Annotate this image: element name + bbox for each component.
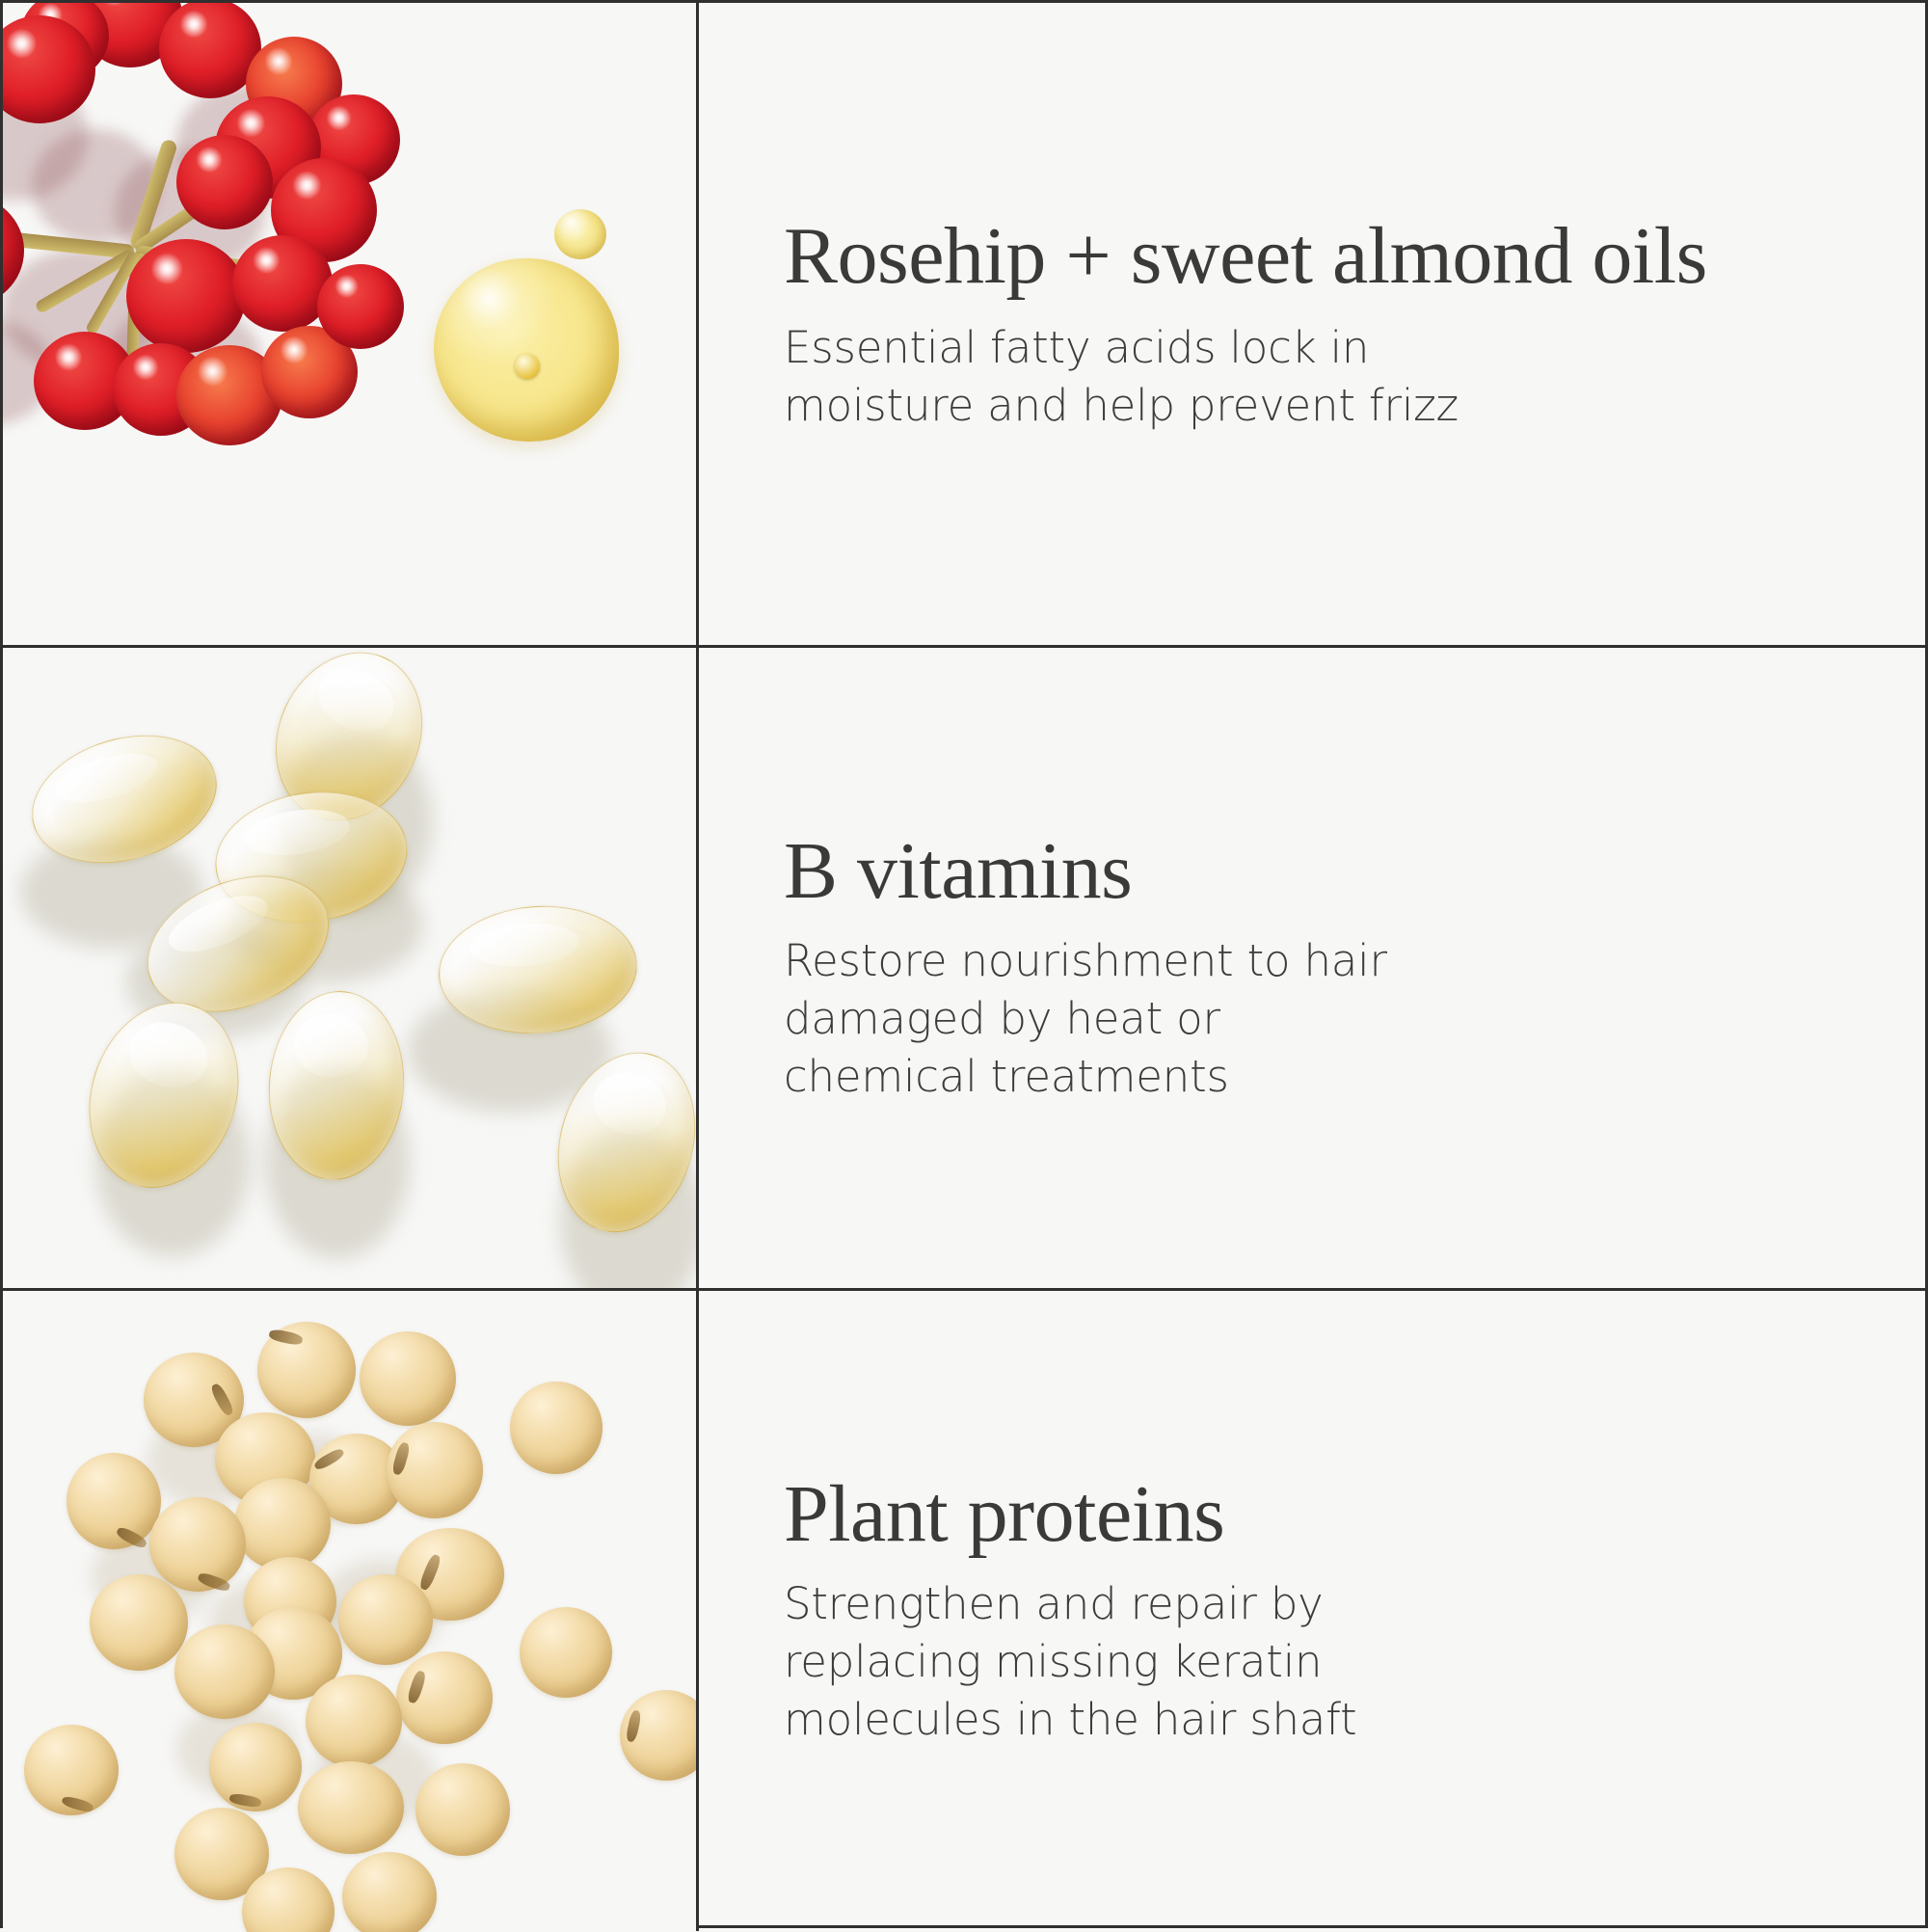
soybean (306, 1675, 402, 1767)
panel-copy: Plant proteins Strengthen and repair by … (699, 1289, 1928, 1932)
soybean (174, 1624, 275, 1719)
soybean (415, 1763, 510, 1856)
soybean (298, 1761, 404, 1854)
soybean (338, 1574, 433, 1665)
panel-plant-proteins: Plant proteins Strengthen and repair by … (3, 1289, 1928, 1932)
soybean (396, 1651, 493, 1744)
soybean (67, 1453, 161, 1549)
oil-bead (515, 354, 540, 379)
panel-heading: Rosehip + sweet almond oils (784, 214, 1873, 298)
soybeans-photo (3, 1289, 696, 1932)
horizontal-divider-2 (3, 1288, 1928, 1291)
panel-rosehip-sweet-almond-oils: Rosehip + sweet almond oils Essential fa… (3, 3, 1928, 646)
ingredient-benefits-infographic: Rosehip + sweet almond oils Essential fa… (0, 0, 1928, 1928)
panel-heading: B vitamins (784, 829, 1873, 913)
oil-droplet-small (554, 209, 606, 259)
soybean (209, 1723, 302, 1811)
panel-body: Strengthen and repair by replacing missi… (784, 1575, 1459, 1749)
soybean (257, 1322, 356, 1418)
vertical-divider (696, 3, 699, 1931)
horizontal-divider-1 (3, 645, 1928, 648)
panel-copy: B vitamins Restore nourishment to hair d… (699, 646, 1928, 1289)
panel-heading: Plant proteins (784, 1472, 1873, 1556)
rosehip-berries-and-oil-droplet-photo (3, 3, 696, 646)
oil-droplet-large (434, 258, 619, 442)
panel-b-vitamins: B vitamins Restore nourishment to hair d… (3, 646, 1928, 1289)
soybean (149, 1497, 246, 1592)
vitamin-softgel-capsules-photo (3, 646, 696, 1289)
soybean (360, 1331, 456, 1426)
soybean (90, 1574, 188, 1671)
panel-body: Essential fatty acids lock in moisture a… (784, 319, 1516, 435)
panel-body: Restore nourishment to hair damaged by h… (784, 932, 1401, 1106)
soybean (510, 1382, 602, 1474)
soybean (24, 1725, 119, 1815)
soybean (520, 1607, 612, 1698)
berry-cluster-illustration (3, 3, 504, 499)
soybean (387, 1422, 483, 1518)
panel-copy: Rosehip + sweet almond oils Essential fa… (699, 3, 1928, 646)
soybean (342, 1852, 437, 1932)
soybean (620, 1690, 696, 1781)
